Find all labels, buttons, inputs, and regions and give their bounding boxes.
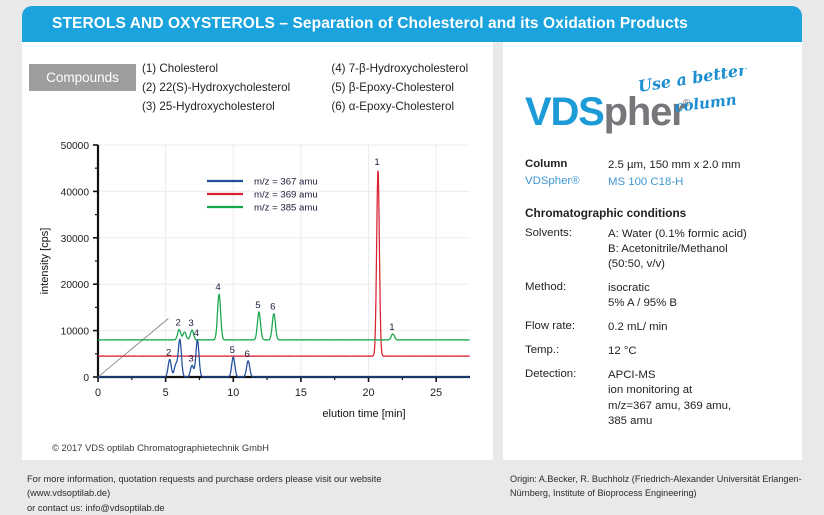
legend-label: m/z = 385 amu [254, 203, 318, 214]
x-tick-label: 15 [295, 387, 307, 399]
compound-item: (2) 22(S)-Hydroxycholesterol [142, 81, 309, 95]
condition-row: Solvents:A: Water (0.1% formic acid) B: … [525, 227, 787, 272]
x-tick-label: 25 [430, 387, 442, 399]
peak-label: 6 [270, 301, 275, 312]
condition-value: isocratic 5% A / 95% B [608, 281, 677, 311]
condition-key: Temp.: [525, 344, 608, 359]
condition-key: Method: [525, 281, 608, 311]
column-row: Column 2.5 µm, 150 mm x 2.0 mm [525, 158, 787, 173]
column-sublabel: VDSpher® [525, 175, 608, 190]
chromatogram-svg: 010000200003000040000500000510152025elut… [32, 137, 487, 427]
condition-key: Detection: [525, 368, 608, 428]
peak-label: 5 [230, 345, 235, 356]
condition-value: APCI-MS ion monitoring at m/z=367 amu, 3… [608, 368, 731, 428]
right-panel: VDSpher ® Use a better column Column 2.5… [503, 42, 802, 460]
condition-row: Temp.:12 °C [525, 344, 787, 359]
tagline-line-2: column [673, 90, 737, 115]
y-tick-label: 40000 [61, 187, 90, 198]
legend-label: m/z = 367 amu [254, 177, 318, 188]
column-subrow: VDSpher® MS 100 C18-H [525, 175, 787, 190]
condition-key: Flow rate: [525, 320, 608, 335]
column-subvalue: MS 100 C18-H [608, 175, 683, 190]
conditions-rows: Solvents:A: Water (0.1% formic acid) B: … [525, 227, 787, 429]
tagline-handwriting: Use a better column [635, 68, 785, 120]
footer-origin-text: Origin: A.Becker, R. Buchholz (Friedrich… [510, 472, 810, 500]
x-axis-label: elution time [min] [322, 408, 405, 420]
compounds-column-1: (1) Cholesterol (2) 22(S)-Hydroxycholest… [142, 62, 309, 114]
legend-label: m/z = 369 amu [254, 190, 318, 201]
peak-label: 3 [188, 353, 193, 364]
column-value: 2.5 µm, 150 mm x 2.0 mm [608, 158, 741, 173]
condition-value: A: Water (0.1% formic acid) B: Acetonitr… [608, 227, 747, 272]
condition-row: Detection:APCI-MS ion monitoring at m/z=… [525, 368, 787, 428]
compound-item: (5) β-Epoxy-Cholesterol [331, 81, 487, 95]
peak-label: 4 [215, 282, 221, 293]
compound-item: (1) Cholesterol [142, 62, 309, 76]
peak-label: 2 [175, 318, 180, 329]
brand-vds-text: VDS [525, 90, 604, 134]
y-tick-label: 0 [83, 373, 89, 384]
condition-value: 0.2 mL/ min [608, 320, 668, 335]
peak-label: 2 [166, 347, 171, 358]
chromatogram-chart: 010000200003000040000500000510152025elut… [32, 137, 487, 427]
peak-label: 6 [244, 349, 249, 360]
y-tick-label: 10000 [61, 327, 90, 338]
page-title: STEROLS AND OXYSTEROLS – Separation of C… [52, 15, 688, 33]
x-tick-label: 10 [227, 387, 239, 399]
y-axis-label: intensity [cps] [39, 228, 51, 295]
compounds-badge: Compounds [29, 64, 136, 91]
peak-label: 1 [374, 157, 379, 168]
condition-row: Flow rate:0.2 mL/ min [525, 320, 787, 335]
condition-value: 12 °C [608, 344, 637, 359]
left-panel: Compounds (1) Cholesterol (2) 22(S)-Hydr… [22, 42, 493, 460]
peak-label: 4 [194, 328, 200, 339]
footer-contact-text: For more information, quotation requests… [27, 472, 457, 515]
brand-logo: VDSpher ® Use a better column [525, 80, 793, 144]
compounds-list: (1) Cholesterol (2) 22(S)-Hydroxycholest… [142, 62, 487, 114]
compound-item: (3) 25-Hydroxycholesterol [142, 100, 309, 114]
y-tick-label: 30000 [61, 234, 90, 245]
y-tick-label: 50000 [61, 141, 90, 152]
compound-item: (6) α-Epoxy-Cholesterol [331, 100, 487, 114]
specifications: Column 2.5 µm, 150 mm x 2.0 mm VDSpher® … [525, 158, 787, 438]
y-tick-label: 20000 [61, 280, 90, 291]
footer: For more information, quotation requests… [0, 468, 824, 508]
column-label: Column [525, 158, 608, 173]
poster-sheet: STEROLS AND OXYSTEROLS – Separation of C… [0, 0, 824, 508]
peak-label: 3 [188, 318, 193, 329]
peak-label: 5 [255, 300, 260, 311]
x-tick-label: 0 [95, 387, 101, 399]
compound-item: (4) 7-β-Hydroxycholesterol [331, 62, 487, 76]
peak-label: 1 [389, 322, 394, 333]
conditions-title: Chromatographic conditions [525, 206, 787, 220]
header-bar: STEROLS AND OXYSTEROLS – Separation of C… [22, 6, 802, 42]
x-tick-label: 20 [363, 387, 375, 399]
condition-row: Method:isocratic 5% A / 95% B [525, 281, 787, 311]
copyright-text: © 2017 VDS optilab Chromatographietechni… [52, 442, 269, 453]
compounds-column-2: (4) 7-β-Hydroxycholesterol (5) β-Epoxy-C… [331, 62, 487, 114]
x-tick-label: 5 [163, 387, 169, 399]
condition-key: Solvents: [525, 227, 608, 272]
